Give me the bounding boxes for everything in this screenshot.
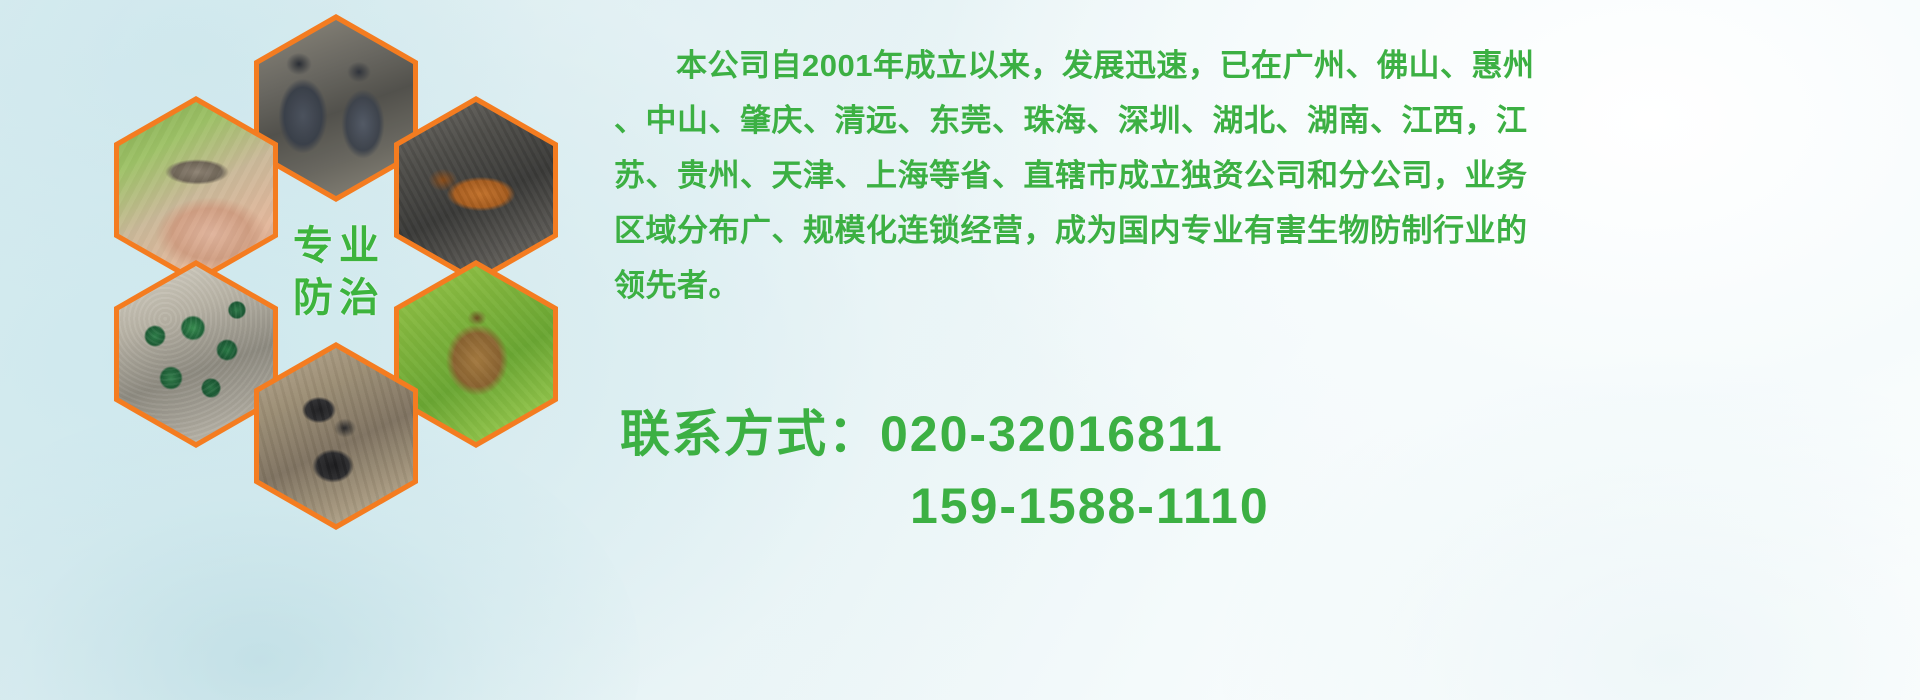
contact-phone-mobile[interactable]: 159-1588-1110 <box>620 470 1270 542</box>
hex-photo-stinkbug <box>394 260 558 448</box>
center-label-line-2: 防治 <box>287 277 385 319</box>
company-description: 本公司自2001年成立以来，发展迅速，已在广州、佛山、惠州 、中山、肇庆、清远、… <box>614 38 1882 313</box>
mosquito-image <box>119 102 273 278</box>
promo-banner: 专业 防治 本公司自2001年成立以来，发展迅速，已在广州、佛山、惠州 、中山、… <box>0 0 1920 700</box>
contact-block: 联系方式：020-32016811 159-1588-1110 <box>620 398 1270 542</box>
description-line-4: 区域分布广、规模化连锁经营，成为国内专业有害生物防制行业的 <box>614 203 1882 258</box>
hex-photo-rats <box>254 14 418 202</box>
hex-photo-flies <box>114 260 278 448</box>
description-line-3: 苏、贵州、天津、上海等省、直辖市成立独资公司和分公司，业务 <box>614 148 1882 203</box>
ant-image <box>259 348 413 524</box>
hex-photo-ant <box>254 342 418 530</box>
description-line-2: 、中山、肇庆、清远、东莞、珠海、深圳、湖北、湖南、江西，江 <box>614 93 1882 148</box>
hex-center-label: 专业 防治 <box>254 178 418 366</box>
center-label-line-1: 专业 <box>287 225 385 267</box>
contact-phone-landline[interactable]: 联系方式：020-32016811 <box>620 398 1270 470</box>
cockroach-image <box>399 102 553 278</box>
background-haze-bottom-right <box>1220 360 1920 700</box>
description-line-1: 本公司自2001年成立以来，发展迅速，已在广州、佛山、惠州 <box>614 38 1882 93</box>
flies-image <box>119 266 273 442</box>
description-line-5: 领先者。 <box>614 258 1882 313</box>
stinkbug-image <box>399 266 553 442</box>
hex-photo-mosquito <box>114 96 278 284</box>
hex-photo-cockroach <box>394 96 558 284</box>
honeycomb-collage: 专业 防治 <box>88 14 588 574</box>
rats-image <box>259 20 413 196</box>
